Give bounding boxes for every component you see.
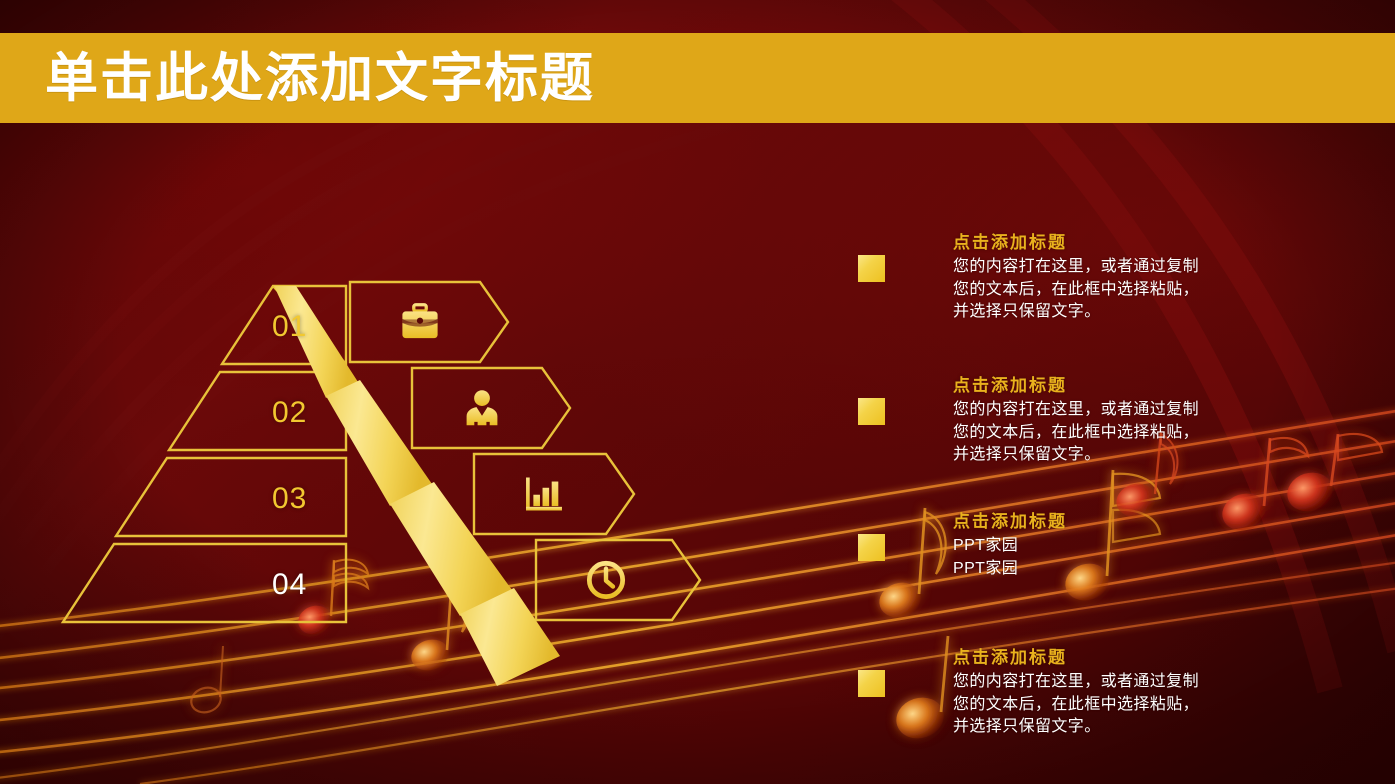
bullet-square-2 [858, 398, 885, 425]
page-title: 单击此处添加文字标题 [45, 52, 595, 105]
content-block-3-body: PPT家园 PPT家园 [953, 535, 1353, 580]
pyramid-level-number-02: 02 [272, 396, 307, 430]
clock-icon [584, 558, 628, 602]
pyramid-level-number-03: 03 [272, 482, 307, 516]
pyramid-level-number-04: 04 [272, 568, 307, 602]
slide-canvas: 单击此处添加文字标题 [0, 0, 1395, 784]
content-block-2-body: 您的内容打在这里，或者通过复制 您的文本后，在此框中选择粘贴， 并选择只保留文字… [953, 399, 1353, 467]
bullet-square-1 [858, 255, 885, 282]
bullet-square-3 [858, 534, 885, 561]
pyramid-diagram: 01 02 03 04 [60, 268, 760, 698]
content-block-4-body: 您的内容打在这里，或者通过复制 您的文本后，在此框中选择粘贴， 并选择只保留文字… [953, 671, 1353, 739]
content-block-4-heading: 点击添加标题 [953, 647, 1353, 670]
content-block-2-heading: 点击添加标题 [953, 375, 1353, 398]
content-block-1-heading: 点击添加标题 [953, 232, 1353, 255]
bullet-square-4 [858, 670, 885, 697]
gold-ribbon [274, 286, 560, 686]
slide-title-bar: 单击此处添加文字标题 [0, 33, 1395, 123]
content-block-1-body: 您的内容打在这里，或者通过复制 您的文本后，在此框中选择粘贴， 并选择只保留文字… [953, 256, 1353, 324]
content-block-3-heading: 点击添加标题 [953, 511, 1353, 534]
briefcase-icon [398, 300, 442, 344]
person-icon [460, 386, 504, 430]
pyramid-level-number-01: 01 [272, 310, 307, 344]
bar-chart-icon [522, 472, 566, 516]
